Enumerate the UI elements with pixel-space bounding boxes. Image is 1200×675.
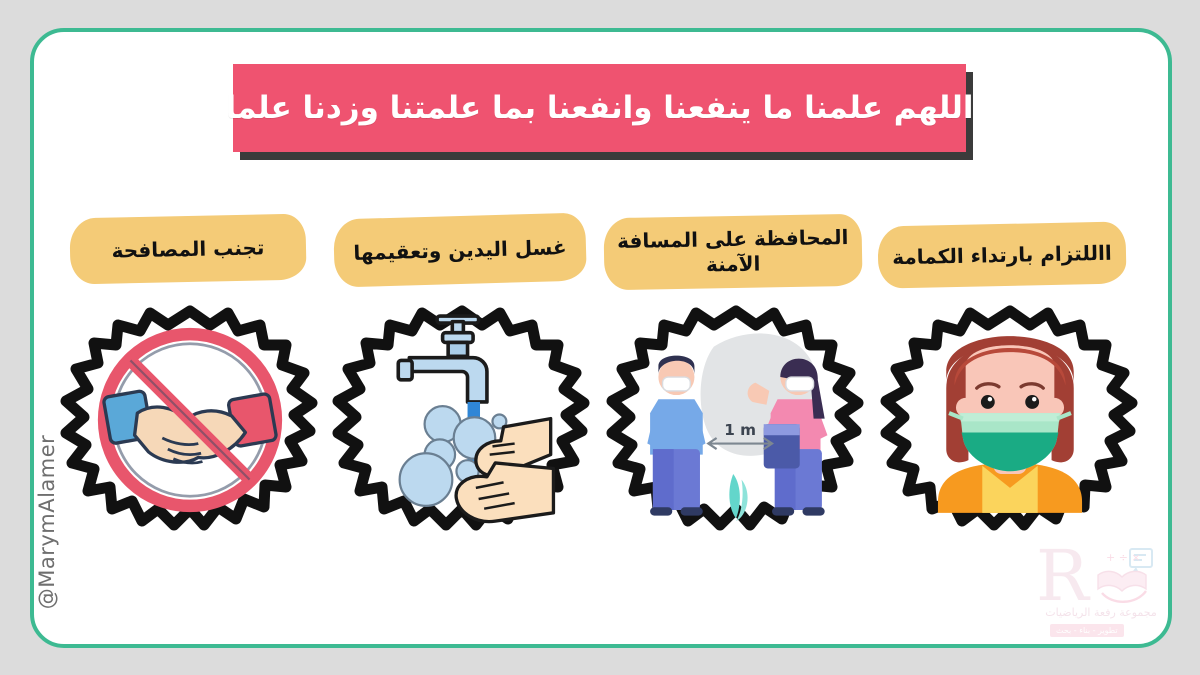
poster-stage: اللهم علمنا ما ينفعنا وانفعنا بما علمتنا… bbox=[0, 0, 1200, 675]
label-chip-text: المحافظة على المسافة الآمنة bbox=[616, 225, 851, 279]
illustration-safe-distance: 1 m bbox=[606, 305, 866, 535]
illustration-wash-hands bbox=[332, 305, 592, 535]
logo-tag-text: تطوير - بناء - بحث bbox=[1050, 624, 1124, 637]
no-handshake-icon bbox=[60, 305, 320, 535]
label-chip-text: غسل اليدين وتعقيمها bbox=[353, 235, 567, 266]
logo-arabic-text: مجموعة رفعة الرياضيات bbox=[1042, 606, 1160, 619]
label-chip-wear-mask: االلتزام بارتداء الكمامة bbox=[877, 221, 1126, 288]
label-chip-text: االلتزام بارتداء الكمامة bbox=[892, 240, 1112, 270]
logo-letter: R bbox=[1036, 541, 1089, 611]
person-wearing-mask-icon bbox=[880, 305, 1140, 535]
label-chip-text: تجنب المصافحة bbox=[111, 235, 264, 263]
illustration-wear-mask bbox=[880, 305, 1140, 535]
label-chip-wash-hands: غسل اليدين وتعقيمها bbox=[333, 212, 587, 287]
title-banner: اللهم علمنا ما ينفعنا وانفعنا بما علمتنا… bbox=[233, 64, 966, 152]
svg-text:+ ÷ ×: + ÷ × bbox=[1106, 551, 1141, 564]
label-chip-avoid-handshake: تجنب المصافحة bbox=[69, 214, 306, 285]
logo-emblem-icon: + ÷ × bbox=[1092, 545, 1158, 607]
title-text: اللهم علمنا ما ينفعنا وانفعنا بما علمتنا… bbox=[226, 90, 974, 126]
label-chip-safe-distance: المحافظة على المسافة الآمنة bbox=[603, 214, 862, 290]
author-handle-watermark: @MarymAlamer bbox=[35, 427, 59, 617]
handwashing-faucet-icon bbox=[332, 305, 592, 535]
brand-logo-watermark: R + ÷ × مجموعة رفعة الرياضيات تطوير - بن… bbox=[1034, 535, 1162, 639]
illustration-no-handshake bbox=[60, 305, 320, 535]
social-distance-two-people-icon: 1 m bbox=[606, 305, 866, 535]
distance-label: 1 m bbox=[724, 421, 756, 439]
